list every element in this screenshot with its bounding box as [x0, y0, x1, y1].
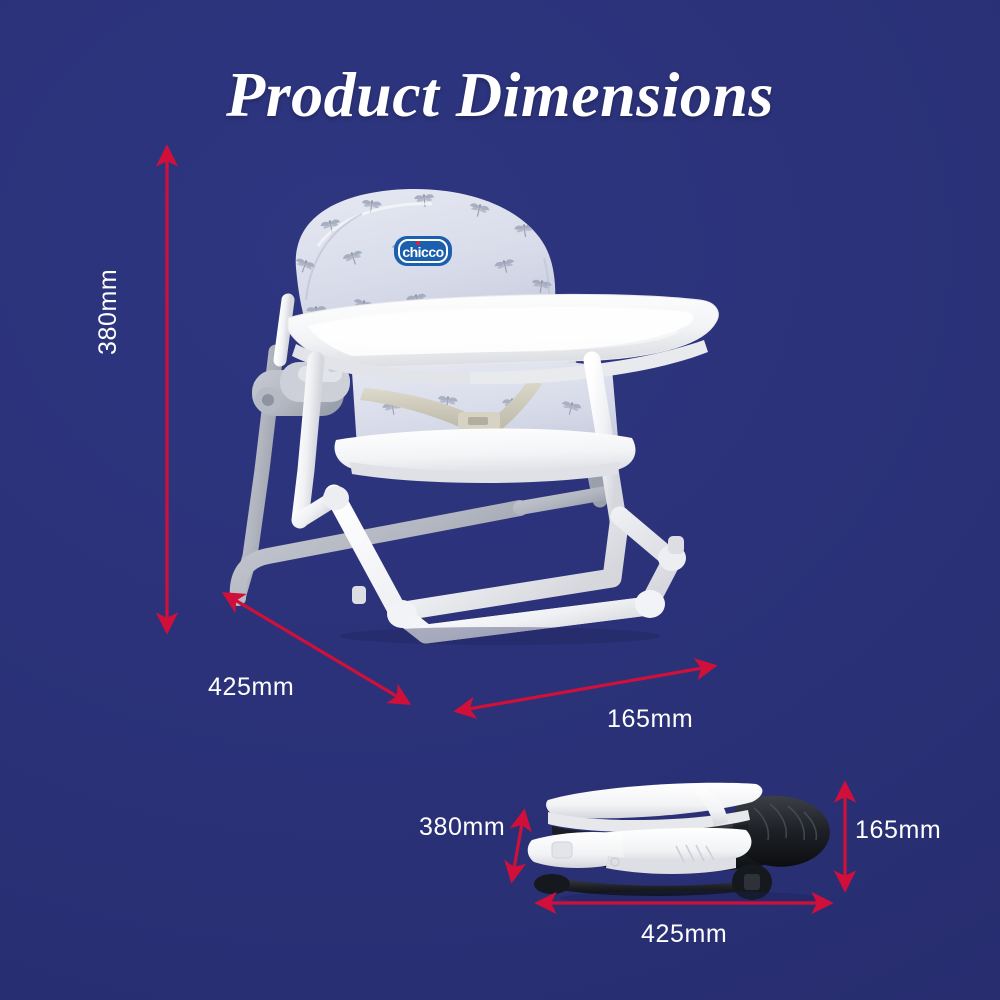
dimension-label-width-main: 165mm	[607, 705, 693, 734]
dimension-label-height-folded: 380mm	[419, 813, 505, 842]
dimension-label-height-main: 380mm	[94, 235, 123, 355]
product-dimensions-infographic: Product Dimensions	[0, 0, 1000, 1000]
dimension-label-depth-main: 425mm	[208, 673, 294, 702]
dimension-label-width-folded: 425mm	[641, 920, 727, 949]
dimension-arrows-layer	[0, 0, 1000, 1000]
arrow-height-folded	[512, 812, 524, 880]
dimension-label-depth-folded: 165mm	[855, 816, 941, 845]
